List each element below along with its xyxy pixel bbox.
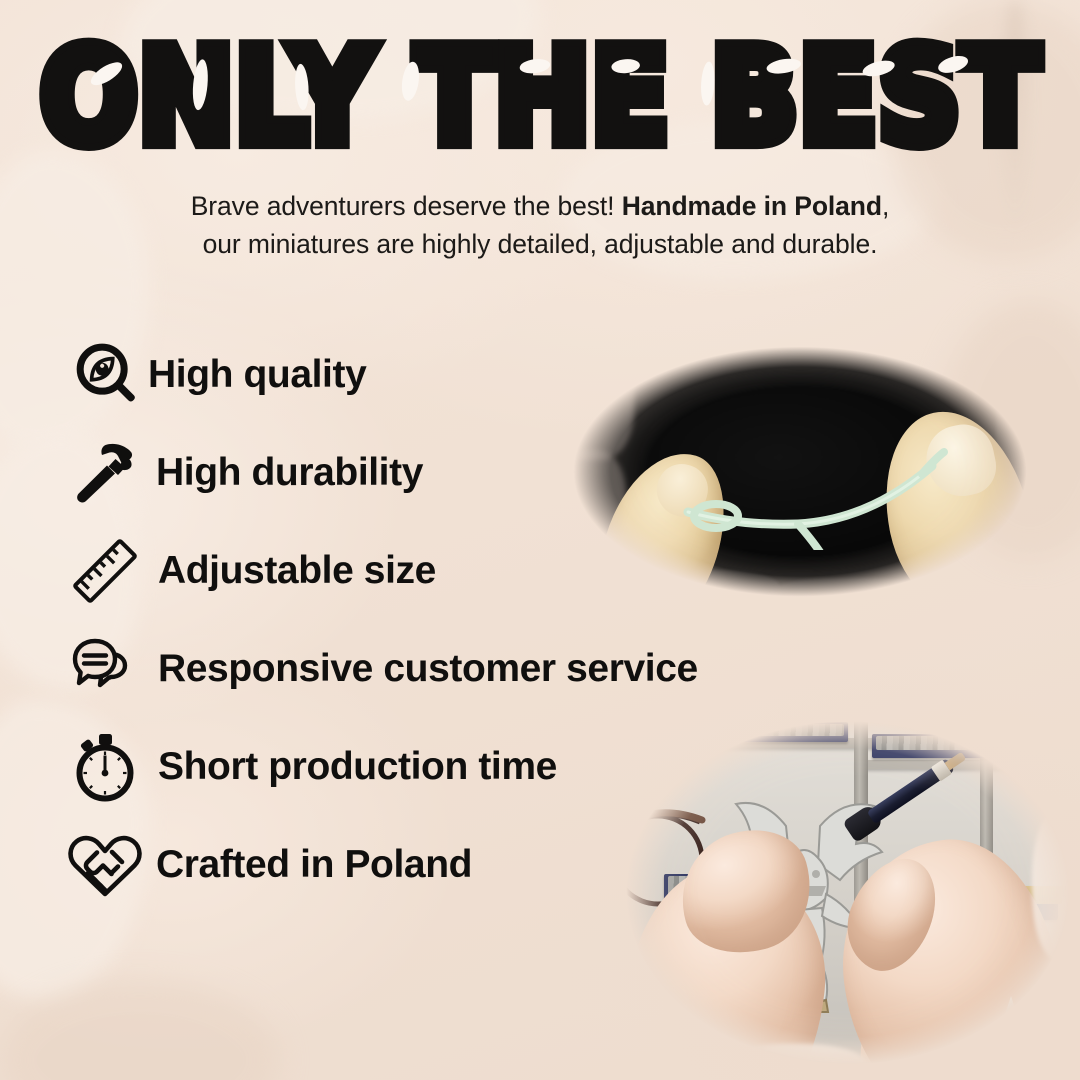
subtitle-line2: our miniatures are highly detailed, adju…: [203, 229, 878, 259]
list-item-label: High quality: [148, 353, 366, 397]
magnifier-eye-icon: [62, 332, 148, 418]
list-item-label: Responsive customer service: [148, 647, 698, 691]
page-title: ONLY THE BEST: [40, 36, 1040, 161]
photo-edge-fringe: [688, 308, 808, 348]
subtitle-line1-bold: Handmade in Poland: [622, 191, 882, 221]
flexible-miniature-part: [670, 430, 970, 550]
ruler-icon: [62, 528, 148, 614]
page-title-text: ONLY THE BEST: [40, 22, 1040, 173]
stopwatch-icon: [62, 724, 148, 810]
tool-tip: [945, 752, 967, 771]
photo-edge-fringe: [576, 750, 630, 870]
list-item-label: Adjustable size: [148, 549, 436, 593]
list-item-label: Short production time: [148, 745, 557, 789]
workshop-painting-photo: [576, 690, 1080, 1080]
photo-edge-fringe: [1032, 810, 1080, 960]
list-item-label: Crafted in Poland: [148, 843, 472, 887]
heart-handshake-icon: [62, 822, 148, 908]
subtitle: Brave adventurers deserve the best! Hand…: [80, 188, 1000, 263]
headline-container: ONLY THE BEST: [0, 36, 1080, 144]
speech-bubbles-icon: [62, 626, 148, 712]
list-item-label: High durability: [148, 451, 423, 495]
photo-edge-fringe: [554, 340, 634, 460]
photo-edge-fringe: [770, 578, 930, 618]
photo-frame: [576, 690, 1080, 1080]
photo-edge-fringe: [580, 940, 634, 1070]
subtitle-line1-prefix: Brave adventurers deserve the best!: [191, 191, 622, 221]
promo-banner: ONLY THE BEST Brave adventurers deserve …: [0, 0, 1080, 1080]
photo-edge-fringe: [726, 1044, 866, 1080]
photo-frame: [520, 300, 1080, 630]
photo-edge-fringe: [940, 318, 1050, 356]
flexible-miniature-photo: [520, 300, 1080, 630]
subtitle-line1-suffix: ,: [882, 191, 889, 221]
photo-edge-fringe: [696, 690, 816, 728]
hammer-icon: [62, 430, 148, 516]
photo-edge-fringe: [820, 306, 960, 342]
